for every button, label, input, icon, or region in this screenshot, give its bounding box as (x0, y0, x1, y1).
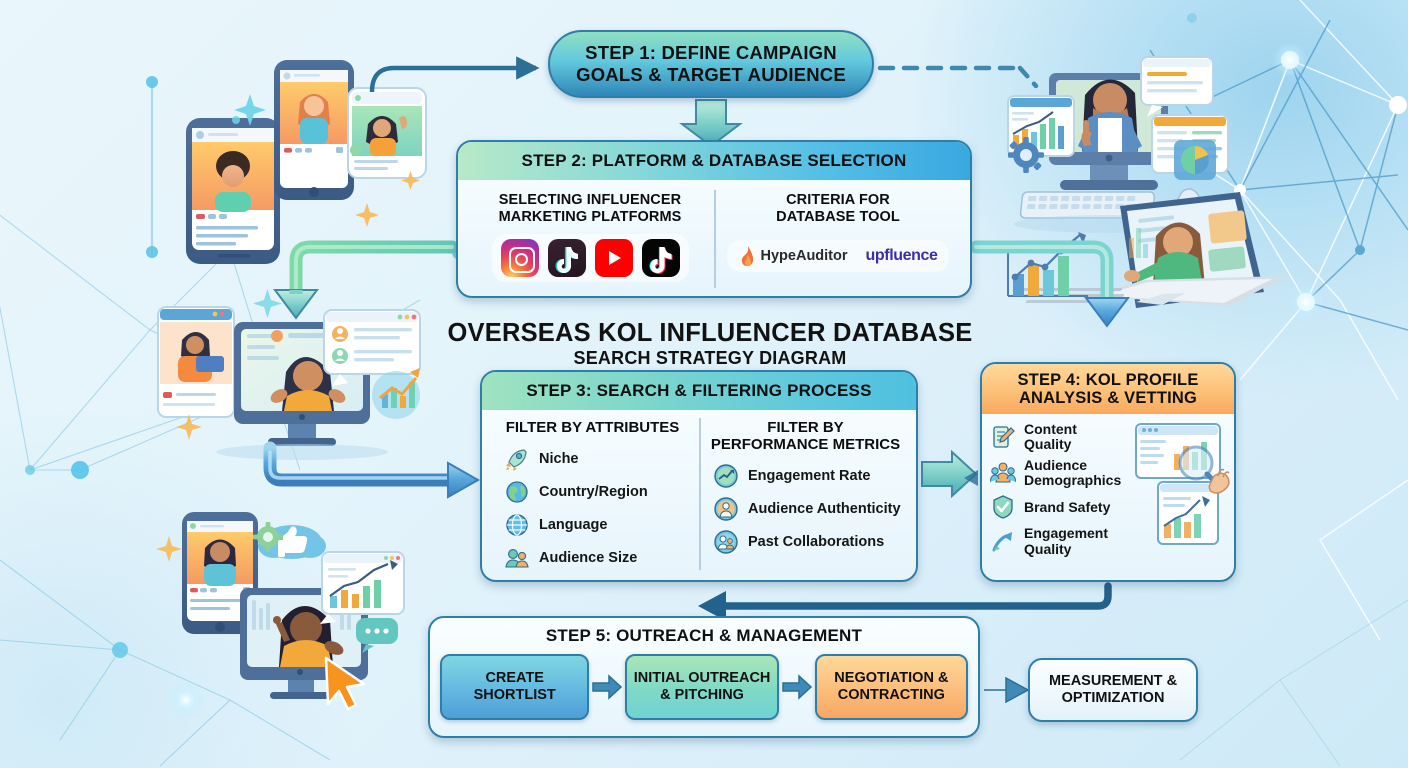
filter-label: Audience Size (539, 550, 637, 566)
hypeauditor-logo[interactable]: HypeAuditor (739, 246, 848, 266)
filter-label: Country/Region (539, 484, 648, 500)
vetting-item-content-quality[interactable]: Content Quality (990, 422, 1142, 452)
person-check-icon (713, 496, 739, 522)
laptop-analyst-illustration (1008, 192, 1286, 308)
metric-item-audience-authenticity[interactable]: Audience Authenticity (699, 496, 912, 522)
shield-check-icon (990, 494, 1016, 520)
step3-left-column: FILTER BY ATTRIBUTES Niche (486, 420, 699, 574)
step5-header: STEP 5: OUTREACH & MANAGEMENT (430, 618, 978, 654)
youtube-icon[interactable] (595, 239, 633, 277)
filter-label: Language (539, 517, 607, 533)
step5-card[interactable]: STEP 5: OUTREACH & MANAGEMENT CREATE SHO… (428, 616, 980, 738)
sequence-arrow-1-icon (589, 672, 625, 702)
phones-social-feed-illustration (186, 60, 426, 264)
hypeauditor-label: HypeAuditor (761, 248, 848, 264)
step4-header: STEP 4: KOL PROFILE ANALYSIS & VETTING (982, 364, 1234, 414)
tiktok-black-icon[interactable] (642, 239, 680, 277)
vetting-label: Content Quality (1024, 422, 1077, 452)
diagram-title: OVERSEAS KOL INFLUENCER DATABASE SEARCH … (420, 320, 1000, 369)
metric-item-past-collaborations[interactable]: Past Collaborations (699, 529, 912, 555)
step1-label: STEP 1: DEFINE CAMPAIGN GOALS & TARGET A… (576, 42, 846, 86)
upfluence-logo[interactable]: upfluence (866, 247, 938, 265)
trend-up-icon (713, 463, 739, 489)
arrow-growth-icon (990, 529, 1016, 555)
filter-item-language[interactable]: Language (486, 512, 699, 538)
step3-right-column: FILTER BY PERFORMANCE METRICS Engagement… (699, 420, 912, 574)
vetting-item-brand-safety[interactable]: Brand Safety (990, 494, 1142, 520)
step5-box-negotiation[interactable]: NEGOTIATION & CONTRACTING (815, 654, 968, 720)
globe-americas-icon (504, 479, 530, 505)
phone-monitor-engagement-illustration (156, 512, 404, 709)
flame-icon (739, 246, 755, 266)
vetting-label: Engagement Quality (1024, 526, 1142, 556)
vetting-label: Audience Demographics (1024, 458, 1121, 488)
step2-right-column: CRITERIA FOR DATABASE TOOL HypeAuditor u… (714, 186, 962, 292)
arrow-step2-right-teal (976, 247, 1128, 326)
step1-card[interactable]: STEP 1: DEFINE CAMPAIGN GOALS & TARGET A… (548, 30, 874, 98)
connector-into-step1 (372, 68, 536, 92)
metric-item-engagement-rate[interactable]: Engagement Rate (699, 463, 912, 489)
diagram-title-line2: SEARCH STRATEGY DIAGRAM (420, 348, 1000, 369)
sequence-arrow-2-icon (779, 672, 815, 702)
filter-item-country[interactable]: Country/Region (486, 479, 699, 505)
arrow-step5-to-final (984, 678, 1028, 702)
step2-left-column: SELECTING INFLUENCER MARKETING PLATFORMS (466, 186, 714, 292)
two-people-icon (713, 529, 739, 555)
people-icon (504, 545, 530, 571)
step2-header: STEP 2: PLATFORM & DATABASE SELECTION (458, 142, 970, 180)
presenter-monitor-dashboard-illustration (1008, 57, 1228, 233)
vetting-item-audience-demographics[interactable]: Audience Demographics (990, 458, 1142, 488)
step2-right-title: CRITERIA FOR DATABASE TOOL (776, 192, 900, 226)
metric-label: Engagement Rate (748, 468, 870, 484)
arrow-step3-to-step4 (922, 452, 976, 496)
step3-card[interactable]: STEP 3: SEARCH & FILTERING PROCESS FILTE… (480, 370, 918, 582)
vetting-item-engagement-quality[interactable]: Engagement Quality (990, 526, 1142, 556)
diagram-title-line1: OVERSEAS KOL INFLUENCER DATABASE (420, 320, 1000, 347)
metric-label: Past Collaborations (748, 534, 884, 550)
infographic-canvas: STEP 1: DEFINE CAMPAIGN GOALS & TARGET A… (0, 0, 1408, 768)
connector-step1-dashed-tail (1020, 68, 1036, 86)
filter-label: Niche (539, 451, 579, 467)
final-label: MEASUREMENT & OPTIMIZATION (1049, 673, 1177, 707)
globe-grid-icon (504, 512, 530, 538)
step3-divider (699, 418, 701, 570)
connector-step4-left-nub (964, 470, 978, 486)
rocket-icon (504, 446, 530, 472)
filter-item-audience-size[interactable]: Audience Size (486, 545, 699, 571)
upfluence-label: upfluence (866, 247, 938, 265)
step2-left-title: SELECTING INFLUENCER MARKETING PLATFORMS (499, 192, 682, 226)
database-tool-tray: HypeAuditor upfluence (727, 240, 950, 272)
step3-right-title: FILTER BY PERFORMANCE METRICS (699, 420, 912, 454)
step5-box-create-shortlist[interactable]: CREATE SHORTLIST (440, 654, 589, 720)
step5-box-initial-outreach[interactable]: INITIAL OUTREACH & PITCHING (625, 654, 778, 720)
step3-header: STEP 3: SEARCH & FILTERING PROCESS (482, 372, 916, 410)
arrow-step2-left-green (275, 247, 452, 318)
audience-group-icon (990, 460, 1016, 486)
arrow-into-step3 (270, 448, 478, 497)
metric-label: Audience Authenticity (748, 501, 901, 517)
profile-analysis-illustration (1132, 420, 1232, 572)
document-pencil-icon (990, 424, 1016, 450)
step3-left-title: FILTER BY ATTRIBUTES (486, 420, 699, 437)
step2-card[interactable]: STEP 2: PLATFORM & DATABASE SELECTION SE… (456, 140, 972, 298)
filter-item-niche[interactable]: Niche (486, 446, 699, 472)
final-outcome-card[interactable]: MEASUREMENT & OPTIMIZATION (1028, 658, 1198, 722)
step4-card[interactable]: STEP 4: KOL PROFILE ANALYSIS & VETTING C… (980, 362, 1236, 582)
platform-logo-tray (492, 234, 689, 282)
tiktok-icon[interactable] (548, 239, 586, 277)
vetting-label: Brand Safety (1024, 500, 1110, 515)
step2-divider (714, 190, 716, 288)
monitor-woman-profiles-illustration (158, 289, 420, 460)
instagram-icon[interactable] (501, 239, 539, 277)
